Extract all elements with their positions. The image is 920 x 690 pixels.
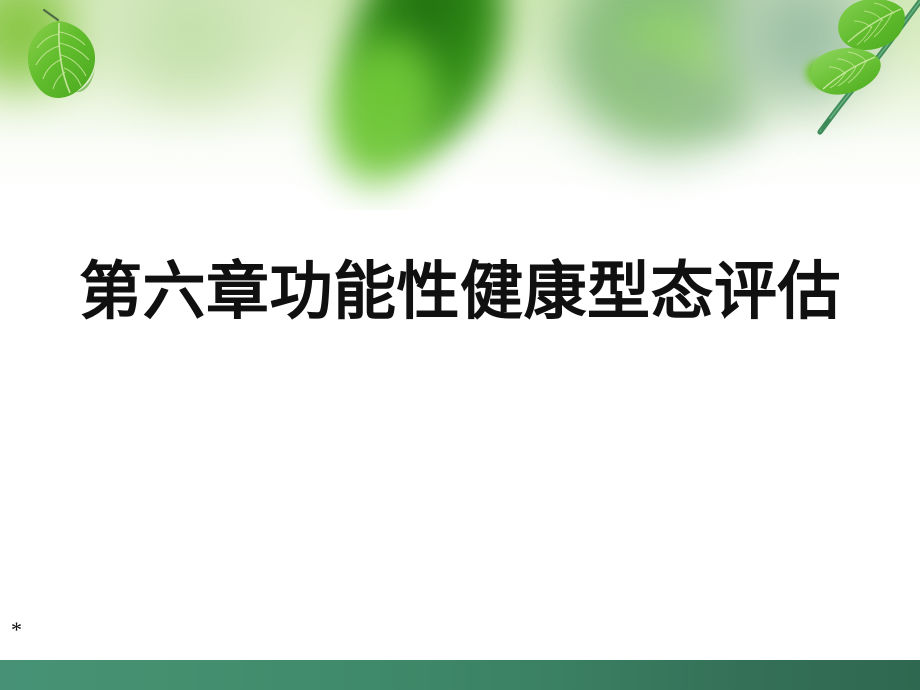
- leaf-top-left-icon: [14, 8, 118, 112]
- leaf-top-right-cluster-icon: [806, 0, 920, 140]
- leaf-blur-center-tip-icon: [316, 27, 451, 196]
- leaf-blur-center-dark-icon: [323, 0, 531, 172]
- decorative-leaf-header: [0, 0, 920, 210]
- page-number-placeholder: *: [11, 619, 22, 641]
- leaf-blur-center-icon: [217, 0, 447, 171]
- presentation-slide: 第六章功能性健康型态评估 *: [0, 0, 920, 690]
- slide-title: 第六章功能性健康型态评估: [60, 258, 860, 327]
- leaf-blur-haze-icon: [96, 0, 286, 100]
- branch-blur-diagonal-icon: [559, 15, 771, 156]
- leaf-blur-right-icon: [546, 0, 783, 166]
- leaf-blur-right-highlight-icon: [610, 4, 730, 114]
- footer-accent-bar: [0, 660, 920, 690]
